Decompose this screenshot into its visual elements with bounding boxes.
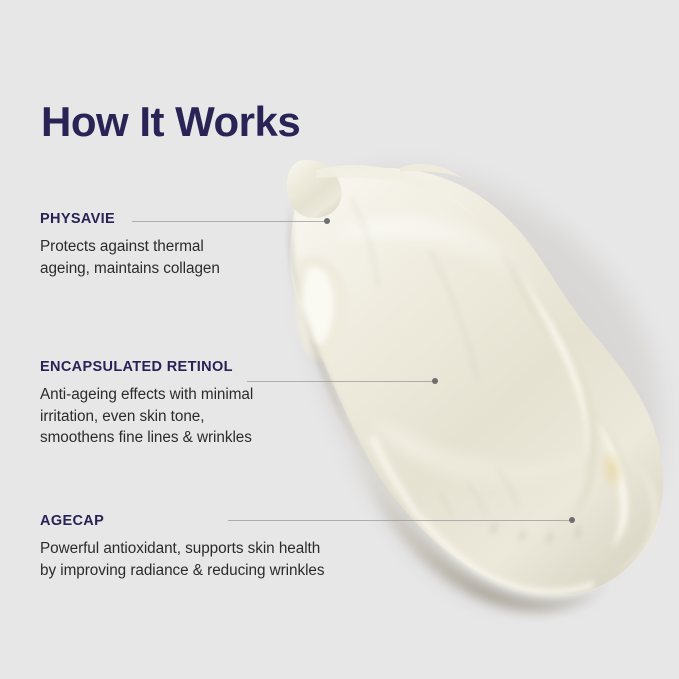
callout-description-encapsulated-retinol: Anti-ageing effects with minimal irritat… (40, 384, 253, 449)
leader-dot-encapsulated-retinol (432, 378, 438, 384)
cream-warm-spot (595, 446, 630, 494)
callout-heading-encapsulated-retinol: ENCAPSULATED RETINOL (40, 359, 253, 375)
page-title: How It Works (41, 96, 300, 148)
callout-description-agecap: Powerful antioxidant, supports skin heal… (40, 538, 324, 581)
callout-heading-agecap: AGECAP (40, 513, 324, 529)
callout-physavie: PHYSAVIE Protects against thermal ageing… (40, 211, 220, 279)
how-it-works-infographic: How It Works PHYSAVIE Protects against t… (0, 0, 679, 679)
leader-dot-agecap (569, 517, 575, 523)
callout-encapsulated-retinol: ENCAPSULATED RETINOL Anti-ageing effects… (40, 359, 253, 449)
callout-agecap: AGECAP Powerful antioxidant, supports sk… (40, 513, 324, 581)
callout-heading-physavie: PHYSAVIE (40, 211, 220, 227)
leader-line-encapsulated-retinol (247, 381, 433, 382)
callout-description-physavie: Protects against thermal ageing, maintai… (40, 236, 220, 279)
leader-dot-physavie (324, 218, 330, 224)
cream-body (290, 165, 663, 595)
